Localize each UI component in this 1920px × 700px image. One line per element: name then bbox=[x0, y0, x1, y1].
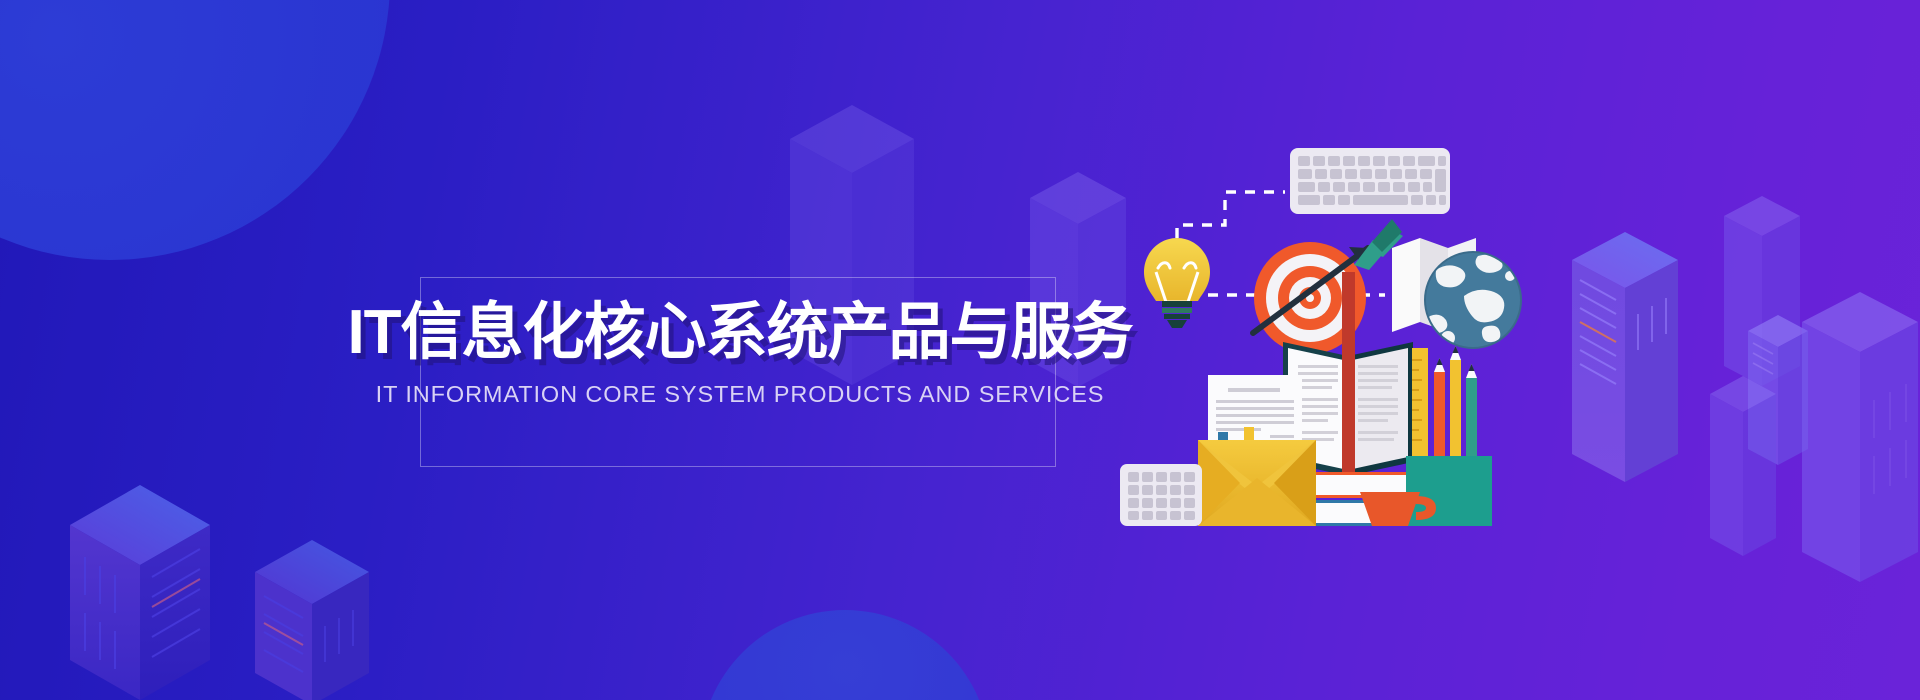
ruler-icon bbox=[1412, 348, 1428, 460]
background-circle-top-left bbox=[0, 0, 390, 260]
keyboard-small bbox=[1120, 464, 1202, 526]
page-title: IT信息化核心系统产品与服务 bbox=[340, 300, 1140, 365]
hero-banner: IT信息化核心系统产品与服务 IT INFORMATION CORE SYSTE… bbox=[0, 0, 1920, 700]
globe-icon bbox=[1425, 252, 1521, 348]
lightbulb-icon bbox=[1144, 238, 1210, 328]
pencil-icon bbox=[1434, 346, 1477, 462]
headline-block: IT信息化核心系统产品与服务 IT INFORMATION CORE SYSTE… bbox=[340, 300, 1140, 408]
isometric-building-right-small bbox=[1748, 315, 1810, 465]
page-subtitle: IT INFORMATION CORE SYSTEM PRODUCTS AND … bbox=[340, 381, 1140, 408]
keyboard-top bbox=[1290, 148, 1450, 214]
isometric-building-right-detailed bbox=[1572, 232, 1682, 482]
isometric-building-right-wide bbox=[1802, 292, 1920, 582]
envelope bbox=[1198, 440, 1316, 526]
background-circle-bottom-center bbox=[700, 610, 990, 700]
isometric-building-left-short bbox=[255, 540, 375, 700]
isometric-building-right-slim bbox=[1710, 376, 1778, 556]
isometric-building-left-tall bbox=[70, 485, 220, 700]
it-education-illustration bbox=[1120, 120, 1580, 580]
isometric-building-right-plain bbox=[1724, 196, 1802, 386]
